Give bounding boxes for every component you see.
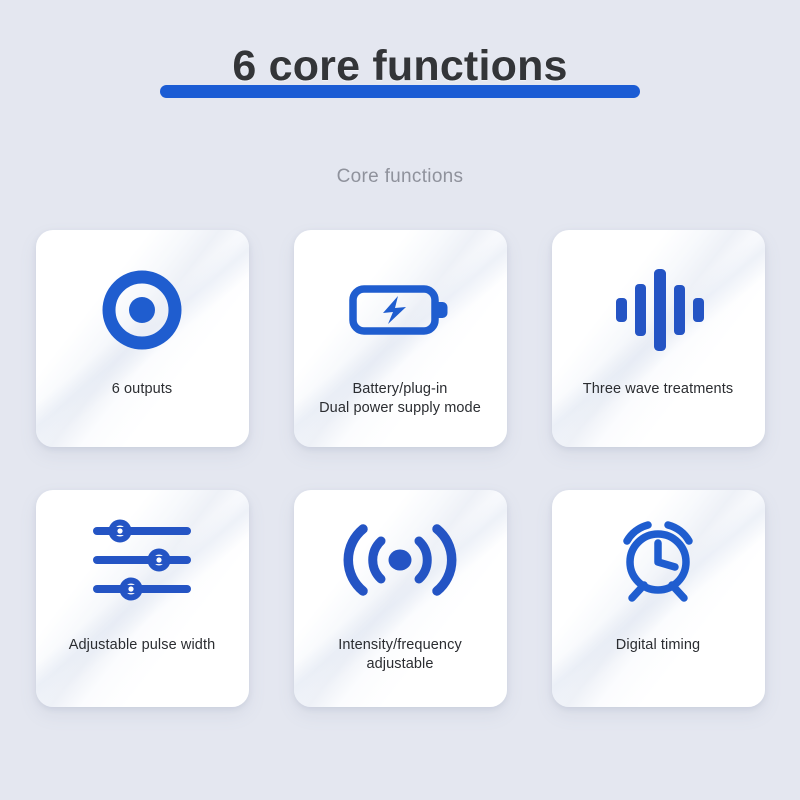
feature-card-label: 6 outputs: [104, 380, 181, 399]
feature-card-power[interactable]: Battery/plug-in Dual power supply mode: [294, 230, 507, 447]
feature-card-label: Intensity/frequency adjustable: [330, 636, 470, 674]
page-title: 6 core functions: [232, 40, 567, 92]
feature-card-intensity[interactable]: Intensity/frequency adjustable: [294, 490, 507, 707]
core-functions-infographic: 6 core functions Core functions 6 output…: [0, 0, 800, 800]
signal-vibration-icon: [348, 512, 452, 608]
feature-card-grid: 6 outputs Battery/plug-in Dual power sup…: [35, 230, 765, 707]
page-header: 6 core functions: [140, 40, 660, 112]
concentric-circle-target-icon: [102, 262, 182, 358]
feature-card-label: Adjustable pulse width: [61, 636, 224, 655]
feature-card-outputs[interactable]: 6 outputs: [36, 230, 249, 447]
sliders-icon: [93, 512, 191, 608]
waveform-bars-icon: [610, 262, 706, 358]
alarm-clock-icon: [610, 512, 706, 608]
feature-card-label: Digital timing: [608, 636, 708, 655]
section-subtitle: Core functions: [337, 166, 464, 188]
battery-charging-icon: [348, 262, 452, 358]
feature-card-label: Battery/plug-in Dual power supply mode: [311, 380, 489, 418]
feature-card-timing[interactable]: Digital timing: [552, 490, 765, 707]
feature-card-pulse-width[interactable]: Adjustable pulse width: [36, 490, 249, 707]
feature-card-label: Three wave treatments: [575, 380, 741, 399]
feature-card-waveforms[interactable]: Three wave treatments: [552, 230, 765, 447]
